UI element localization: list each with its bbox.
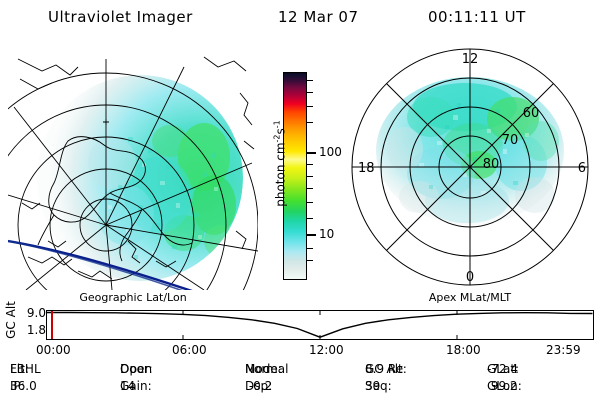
colorbar-tick [307, 248, 313, 249]
polar-grid [352, 49, 588, 285]
mlat-label-70: 70 [502, 133, 519, 148]
mlat-label-80: 80 [483, 157, 500, 172]
status-glon: GLon: 99.2 [487, 379, 491, 393]
strip-ytick-min: 1.8 [27, 323, 46, 337]
colorbar-tick [307, 202, 313, 203]
page-title: Ultraviolet Imager [48, 8, 193, 26]
colorbar-tick [307, 164, 313, 165]
observation-time: 00:11:11 UT [428, 8, 526, 26]
colorbar-tick [307, 218, 313, 219]
colorbar-label-100: 100 [319, 145, 342, 159]
colorbar-axis-unit: s [274, 128, 288, 134]
polar-magnetic-panel[interactable]: 12 18 6 0 60 70 80 [345, 45, 595, 290]
time-tick-4: 23:59 [546, 343, 581, 357]
colorbar-tick [307, 80, 313, 81]
gc-altitude-timeseries[interactable] [46, 310, 594, 340]
colorbar-axis-label: photon cm-2s-1 [273, 94, 288, 234]
geographic-panel-caption: Geographic Lat/Lon [8, 291, 258, 304]
gc-altitude-curve [47, 311, 593, 339]
colorbar-axis-label-text: photon cm [274, 142, 288, 206]
colorbar-tick [307, 106, 313, 107]
strip-y-ticks: 9.0 1.8 [8, 306, 46, 344]
colorbar-tick [307, 188, 313, 189]
aurora-emission-geographic [37, 75, 243, 281]
colorbar-tick [307, 122, 313, 123]
time-axis: 00:00 06:00 12:00 18:00 23:59 [0, 343, 600, 359]
time-tick-1: 06:00 [172, 343, 207, 357]
strip-ytick-max: 9.0 [27, 306, 46, 320]
colorbar-tick [307, 92, 313, 93]
observation-date: 12 Mar 07 [278, 8, 359, 26]
header-bar: Ultraviolet Imager 12 Mar 07 00:11:11 UT [0, 6, 600, 32]
colorbar-tick-major [307, 152, 316, 154]
status-bar: Flt: LBHL Door: Open Mode: Normal GC Alt… [0, 362, 600, 400]
time-cursor[interactable] [51, 311, 53, 339]
colorbar-tick [307, 176, 313, 177]
geographic-map-svg [8, 45, 258, 290]
colorbar: 100 10 photon cm-2s-1 [262, 60, 342, 290]
geographic-map-panel[interactable] [8, 45, 258, 290]
polar-plot-svg: 12 18 6 0 60 70 80 [345, 45, 595, 290]
colorbar-label-10: 10 [319, 227, 334, 241]
colorbar-tick-major [307, 234, 316, 236]
mlt-label-18: 18 [358, 161, 375, 176]
mlat-label-60: 60 [523, 106, 540, 121]
time-tick-2: 12:00 [309, 343, 344, 357]
colorbar-exponent-1: -2 [273, 134, 282, 142]
time-tick-3: 18:00 [446, 343, 481, 357]
colorbar-exponent-2: -1 [273, 120, 282, 128]
polar-panel-caption: Apex MLat/MLT [345, 291, 595, 304]
mlt-label-12: 12 [462, 52, 479, 67]
mlt-label-0: 0 [466, 270, 474, 285]
mlt-label-6: 6 [578, 161, 586, 176]
time-tick-0: 00:00 [36, 343, 71, 357]
colorbar-tick [307, 260, 313, 261]
status-dsp: Dsp: -0.2 [245, 379, 249, 393]
